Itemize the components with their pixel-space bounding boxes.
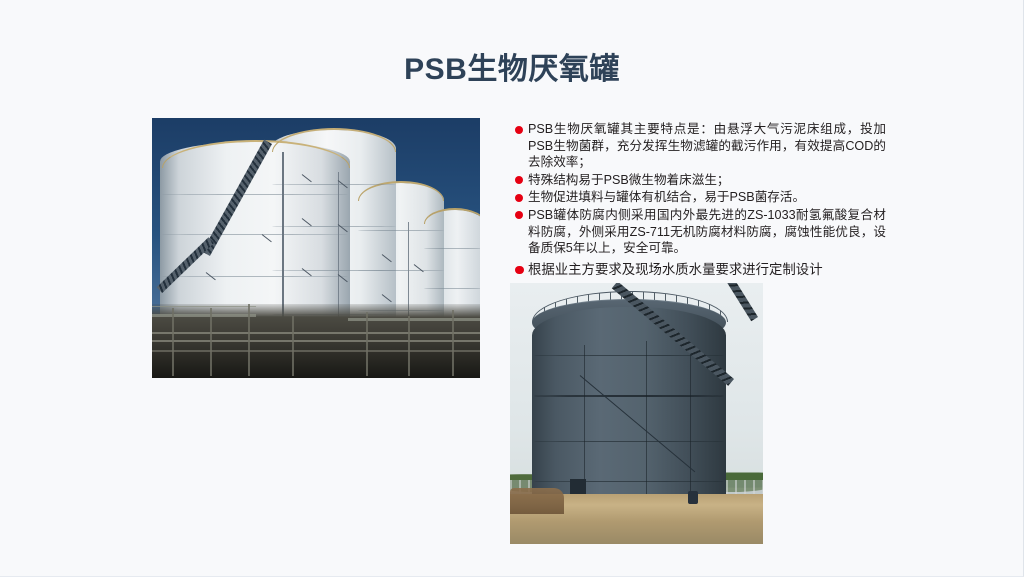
bullet-item: 特殊结构易于PSB微生物着床滋生； — [514, 172, 886, 189]
tank-seam — [534, 481, 724, 482]
pipe-horizontal — [152, 350, 480, 352]
pipe-vertical — [452, 310, 454, 376]
tank-seam — [272, 184, 396, 185]
dirt-pile — [510, 488, 564, 514]
tank-seam — [424, 248, 480, 249]
oil-drum — [688, 491, 698, 504]
tank-seam — [424, 288, 480, 289]
tank-vertical-seam — [646, 341, 647, 499]
bullet-item: PSB罐体防腐内侧采用国内外最先进的ZS-1033耐氢氟酸复合材料防腐，外侧采用… — [514, 207, 886, 257]
pipe-horizontal — [152, 332, 480, 334]
bullet-item: PSB生物厌氧罐其主要特点是：由悬浮大气污泥床组成，投加PSB生物菌群，充分发挥… — [514, 121, 886, 171]
tank-seam — [162, 234, 348, 235]
pipe-vertical — [292, 316, 294, 376]
walkway-platform — [152, 306, 256, 307]
pipe-horizontal — [152, 340, 480, 342]
anaerobic-tank-body — [532, 307, 726, 509]
page-title: PSB生物厌氧罐 — [0, 44, 1024, 88]
pipe-vertical — [408, 316, 410, 376]
tank-vertical-seam — [690, 347, 691, 497]
bullet-item: 根据业主方要求及现场水质水量要求进行定制设计 — [514, 261, 886, 279]
pipe-vertical — [210, 308, 212, 376]
pipe-vertical — [366, 312, 368, 376]
bullet-item: 生物促进填料与罐体有机结合，易于PSB菌存活。 — [514, 189, 886, 206]
tank-seam — [272, 226, 396, 227]
slide-canvas: PSB生物厌氧罐 — [0, 0, 1024, 577]
walkway-platform — [152, 314, 256, 317]
white-storage-tanks-photo — [152, 118, 480, 378]
tank-seam — [162, 194, 348, 195]
feature-bullet-list: PSB生物厌氧罐其主要特点是：由悬浮大气污泥床组成，投加PSB生物菌群，充分发挥… — [514, 121, 886, 280]
gray-anaerobic-tank-photo — [510, 283, 763, 544]
tank-seam — [358, 270, 444, 271]
photo-left-scene — [152, 118, 480, 378]
tank-vertical-seam — [584, 345, 585, 495]
tank-seam — [534, 441, 724, 442]
tank-seam — [534, 395, 724, 397]
tank-seam — [358, 230, 444, 231]
photo-right-scene — [510, 283, 763, 544]
pipe-vertical — [172, 308, 174, 376]
tank-seam — [162, 276, 348, 277]
pipe-vertical — [248, 304, 250, 376]
